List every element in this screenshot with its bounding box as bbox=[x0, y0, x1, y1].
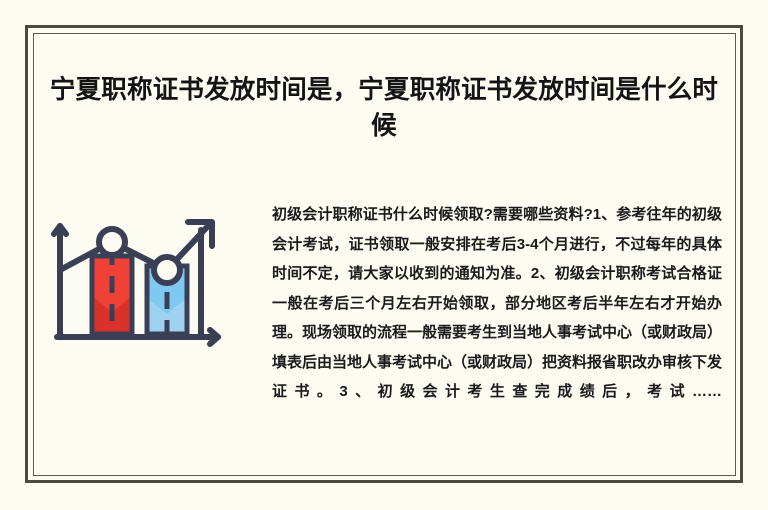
article-card: 宁夏职称证书发放时间是，宁夏职称证书发放时间是什么时候 bbox=[0, 0, 768, 510]
bar-line-chart-growth-icon bbox=[46, 208, 234, 348]
page-title-container: 宁夏职称证书发放时间是，宁夏职称证书发放时间是什么时候 bbox=[48, 72, 720, 144]
article-body-text: 初级会计职称证书什么时候领取?需要哪些资料?1、参考往年的初级会计考试，证书领取… bbox=[272, 200, 722, 407]
content-row: 初级会计职称证书什么时候领取?需要哪些资料?1、参考往年的初级会计考试，证书领取… bbox=[42, 196, 726, 446]
page-title: 宁夏职称证书发放时间是，宁夏职称证书发放时间是什么时候 bbox=[48, 72, 720, 144]
